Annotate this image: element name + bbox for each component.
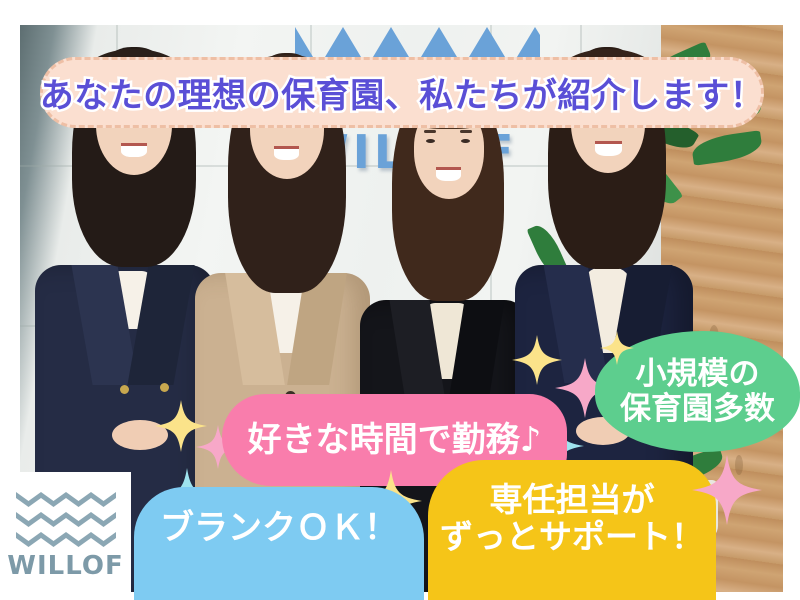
eye xyxy=(426,139,435,143)
bubble-yellow-line1: 専任担当が xyxy=(440,482,704,519)
blazer-button xyxy=(120,385,129,394)
willof-logo: WILLOF xyxy=(0,472,131,600)
willof-zigzag-icon xyxy=(16,492,116,548)
bubble-green-line2: 保育園多数 xyxy=(620,392,775,427)
willof-wordmark: WILLOF xyxy=(7,551,123,581)
bubble-blue-line1: ブランクＯＫ！ xyxy=(150,509,408,547)
eyebrow xyxy=(460,130,472,133)
mouth xyxy=(595,141,622,156)
mouth xyxy=(436,167,461,181)
bubble-green-line1: 小規模の xyxy=(620,357,775,392)
headline-text: あなたの理想の保育園、私たちが紹介します！ xyxy=(40,68,765,117)
mouth xyxy=(121,143,147,157)
sparkle-icon xyxy=(692,455,762,525)
eyebrow xyxy=(424,130,436,133)
bubble-dedicated-support: 専任担当が ずっとサポート！ xyxy=(428,460,716,600)
bubble-yellow-line2: ずっとサポート！ xyxy=(440,519,704,556)
blazer-button xyxy=(160,383,169,392)
bubble-pink-line1: 好きな時間で勤務♪ xyxy=(238,421,552,459)
bubble-blank-ok: ブランクＯＫ！ xyxy=(134,487,424,600)
eye xyxy=(461,139,470,143)
mouth xyxy=(274,146,299,160)
sparkle-icon xyxy=(600,328,634,368)
poster-canvas: WILLOF xyxy=(0,0,800,600)
headline-banner: あなたの理想の保育園、私たちが紹介します！ xyxy=(40,57,764,128)
